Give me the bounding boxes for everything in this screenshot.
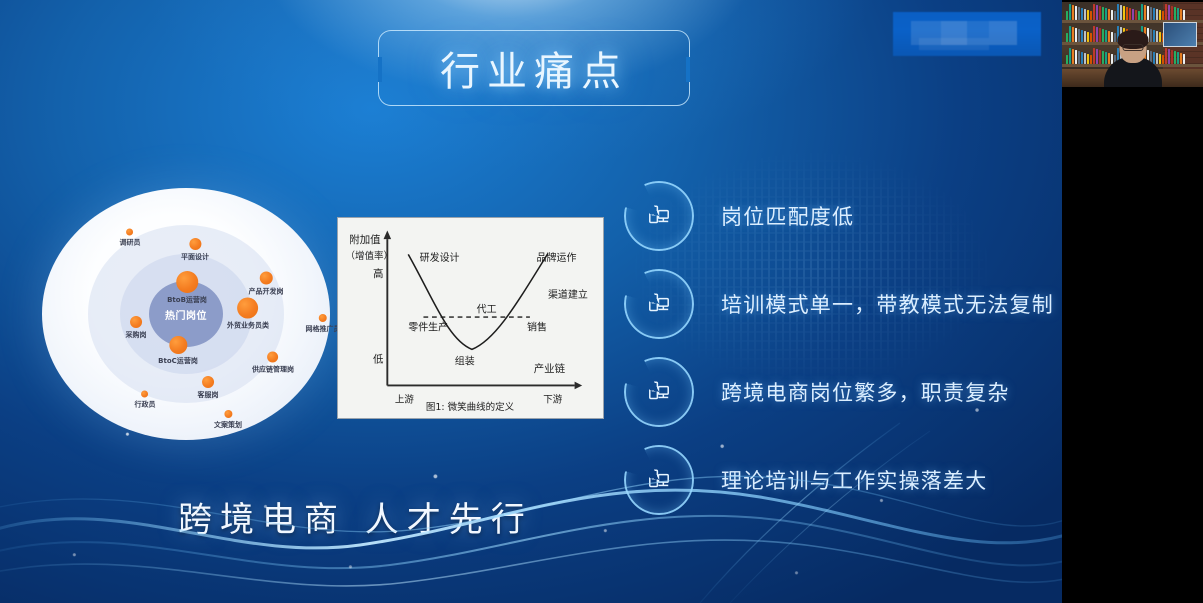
bubble-dot xyxy=(202,376,214,388)
book xyxy=(1081,30,1083,42)
pain-point-item: 培训模式单一，带教模式无法复制 xyxy=(624,260,1054,348)
svg-text:组装: 组装 xyxy=(455,355,475,368)
book xyxy=(1102,7,1104,20)
bubble-node-label: 网格推广员 xyxy=(305,324,340,334)
book xyxy=(1180,53,1182,64)
computer-icon xyxy=(624,357,694,427)
background-monitor xyxy=(1163,22,1197,47)
bubble-node-label: 产品开发岗 xyxy=(248,287,283,297)
book xyxy=(1090,33,1092,42)
book xyxy=(1087,54,1089,64)
speaker-glasses xyxy=(1122,44,1143,51)
svg-text:下游: 下游 xyxy=(543,394,563,406)
computer-icon xyxy=(624,269,694,339)
svg-text:附加值: 附加值 xyxy=(349,233,380,246)
book xyxy=(1174,7,1176,20)
book xyxy=(1066,11,1068,20)
book xyxy=(1144,5,1146,20)
bubble-dot xyxy=(176,271,198,293)
computer-icon xyxy=(624,181,694,251)
book xyxy=(1162,11,1164,20)
svg-text:销售: 销售 xyxy=(527,320,547,333)
slide-slogan: 跨境电商 人才先行 xyxy=(178,492,533,541)
bubble-dot xyxy=(224,410,232,418)
bubble-node: BtoC运营岗 xyxy=(157,336,198,366)
book xyxy=(1099,28,1101,42)
book xyxy=(1165,4,1167,20)
bubble-node: 产品开发岗 xyxy=(248,272,284,297)
speaker-video-tile[interactable] xyxy=(1062,0,1203,87)
bubble-node-label: 外贸业务员类 xyxy=(227,321,269,331)
bubble-node-label: 采购岗 xyxy=(125,330,146,340)
pain-point-text: 培训模式单一，带教模式无法复制 xyxy=(721,289,1054,319)
book xyxy=(1066,55,1068,64)
slide-title-frame: 行业痛点 xyxy=(378,30,690,106)
book xyxy=(1138,11,1140,20)
book-row xyxy=(1066,4,1185,20)
book xyxy=(1153,8,1155,20)
bubble-dot xyxy=(319,314,327,322)
book xyxy=(1156,9,1158,20)
video-panel xyxy=(1062,0,1203,603)
bubble-dot xyxy=(259,272,272,285)
pain-point-text: 岗位匹配度低 xyxy=(721,201,854,231)
book xyxy=(1087,32,1089,42)
book xyxy=(1168,5,1170,20)
book xyxy=(1087,10,1089,20)
book xyxy=(1072,49,1074,64)
book xyxy=(1147,6,1149,20)
book xyxy=(1075,6,1077,20)
bubble-node: 外贸业务员类 xyxy=(226,298,270,331)
book xyxy=(1078,7,1080,20)
svg-text:品牌运作: 品牌运作 xyxy=(537,251,577,264)
bubble-node-label: 供应链管理岗 xyxy=(252,365,294,375)
book xyxy=(1090,11,1092,20)
svg-text:上游: 上游 xyxy=(395,394,415,406)
svg-text:图1: 微笑曲线的定义: 图1: 微笑曲线的定义 xyxy=(426,401,515,413)
book xyxy=(1120,5,1122,20)
book xyxy=(1093,26,1095,42)
bubble-node: 行政员 xyxy=(134,391,156,410)
empty-video-tiles xyxy=(1062,87,1203,603)
book xyxy=(1171,50,1173,64)
bubble-dot xyxy=(189,238,201,250)
bubble-node-label: 行政员 xyxy=(134,400,155,410)
bubble-node-label: BtoC运营岗 xyxy=(158,356,198,366)
bubble-node: 调研员 xyxy=(119,229,141,248)
book xyxy=(1075,50,1077,64)
video-panel-top-edge xyxy=(1062,0,1203,2)
pain-point-item: 理论培训与工作实操落差大 xyxy=(624,436,1054,524)
bubble-dot xyxy=(130,316,142,328)
book xyxy=(1111,10,1113,20)
book xyxy=(1078,51,1080,64)
book xyxy=(1084,53,1086,64)
presentation-slide: 行业痛点 热门岗位 调研员平面设计BtoB运营岗产品开发岗外贸业务员类网格推广员… xyxy=(0,0,1062,603)
bubble-node-label: 调研员 xyxy=(119,238,140,248)
book xyxy=(1099,50,1101,64)
screen: 行业痛点 热门岗位 调研员平面设计BtoB运营岗产品开发岗外贸业务员类网格推广员… xyxy=(0,0,1203,603)
book xyxy=(1093,4,1095,20)
bubble-node: 平面设计 xyxy=(180,238,209,262)
book xyxy=(1180,9,1182,20)
computer-icon xyxy=(624,445,694,515)
svg-text:高: 高 xyxy=(373,267,383,280)
pain-point-text: 理论培训与工作实操落差大 xyxy=(721,465,987,495)
book xyxy=(1096,5,1098,20)
book xyxy=(1081,52,1083,64)
bubble-node: 网格推广员 xyxy=(305,314,341,334)
book xyxy=(1117,4,1119,20)
smile-curve-svg: 附加值 （增值率） 高 低 产业链 上游 下游 研发设计 品牌运作 渠道建立 代… xyxy=(342,222,599,414)
book xyxy=(1090,55,1092,64)
book xyxy=(1168,49,1170,64)
svg-text:研发设计: 研发设计 xyxy=(420,251,460,264)
svg-text:零件生产: 零件生产 xyxy=(408,320,448,333)
bubble-node-label: BtoB运营岗 xyxy=(167,295,207,305)
logo-block xyxy=(989,21,1017,45)
svg-text:（增值率）: （增值率） xyxy=(346,250,394,262)
pain-point-text: 跨境电商岗位繁多，职责复杂 xyxy=(721,377,1010,407)
book xyxy=(1159,10,1161,20)
slide-title: 行业痛点 xyxy=(378,30,690,106)
book xyxy=(1183,54,1185,64)
bubble-node: 供应链管理岗 xyxy=(251,352,295,375)
pain-point-item: 岗位匹配度低 xyxy=(624,172,1054,260)
book xyxy=(1126,7,1128,20)
book xyxy=(1084,9,1086,20)
bubble-dot xyxy=(141,391,148,398)
svg-text:产业链: 产业链 xyxy=(534,362,566,375)
bubble-node-label: 平面设计 xyxy=(181,252,209,262)
book xyxy=(1069,4,1071,20)
book xyxy=(1177,52,1179,64)
book xyxy=(1183,10,1185,20)
bubble-node: 文案策划 xyxy=(213,410,242,430)
book xyxy=(1096,49,1098,64)
book xyxy=(1078,29,1080,42)
svg-text:低: 低 xyxy=(373,353,384,366)
svg-text:渠道建立: 渠道建立 xyxy=(548,288,588,301)
book xyxy=(1108,9,1110,20)
smile-curve-figure: 附加值 （增值率） 高 低 产业链 上游 下游 研发设计 品牌运作 渠道建立 代… xyxy=(337,217,604,419)
book xyxy=(1105,8,1107,20)
book xyxy=(1132,9,1134,20)
bubble-node: 客服岗 xyxy=(197,376,219,400)
bubble-dot xyxy=(268,352,279,363)
bubble-node-label: 客服岗 xyxy=(197,390,218,400)
bubble-node: BtoB运营岗 xyxy=(166,271,208,305)
bubble-dot xyxy=(238,298,259,319)
pain-point-item: 跨境电商岗位繁多，职责复杂 xyxy=(624,348,1054,436)
book xyxy=(1069,48,1071,64)
book xyxy=(1066,33,1068,42)
bubble-dot xyxy=(126,229,133,236)
book xyxy=(1162,55,1164,64)
bubble-node-label: 文案策划 xyxy=(214,420,242,430)
book xyxy=(1129,8,1131,20)
speaker-avatar xyxy=(1104,29,1162,87)
book xyxy=(1141,4,1143,20)
book xyxy=(1072,27,1074,42)
book xyxy=(1123,6,1125,20)
book xyxy=(1177,8,1179,20)
hot-positions-bubble-chart: 热门岗位 调研员平面设计BtoB运营岗产品开发岗外贸业务员类网格推广员采购岗Bt… xyxy=(42,188,330,440)
book xyxy=(1174,51,1176,64)
book xyxy=(1072,5,1074,20)
book xyxy=(1114,11,1116,20)
logo-block xyxy=(919,38,989,50)
bubble-dot xyxy=(169,336,187,354)
book xyxy=(1075,28,1077,42)
bubble-node: 采购岗 xyxy=(125,316,147,340)
book xyxy=(1069,26,1071,42)
book xyxy=(1171,6,1173,20)
book xyxy=(1093,48,1095,64)
pain-point-list: 岗位匹配度低培训模式单一，带教模式无法复制跨境电商岗位繁多，职责复杂理论培训与工… xyxy=(624,172,1054,524)
book xyxy=(1135,10,1137,20)
blurred-logo-badge xyxy=(893,12,1041,56)
book xyxy=(1081,8,1083,20)
book xyxy=(1150,7,1152,20)
svg-text:代工: 代工 xyxy=(477,303,497,315)
bubble-center-label: 热门岗位 xyxy=(165,307,207,322)
book xyxy=(1099,6,1101,20)
book xyxy=(1096,27,1098,42)
book xyxy=(1165,48,1167,64)
book xyxy=(1084,31,1086,42)
